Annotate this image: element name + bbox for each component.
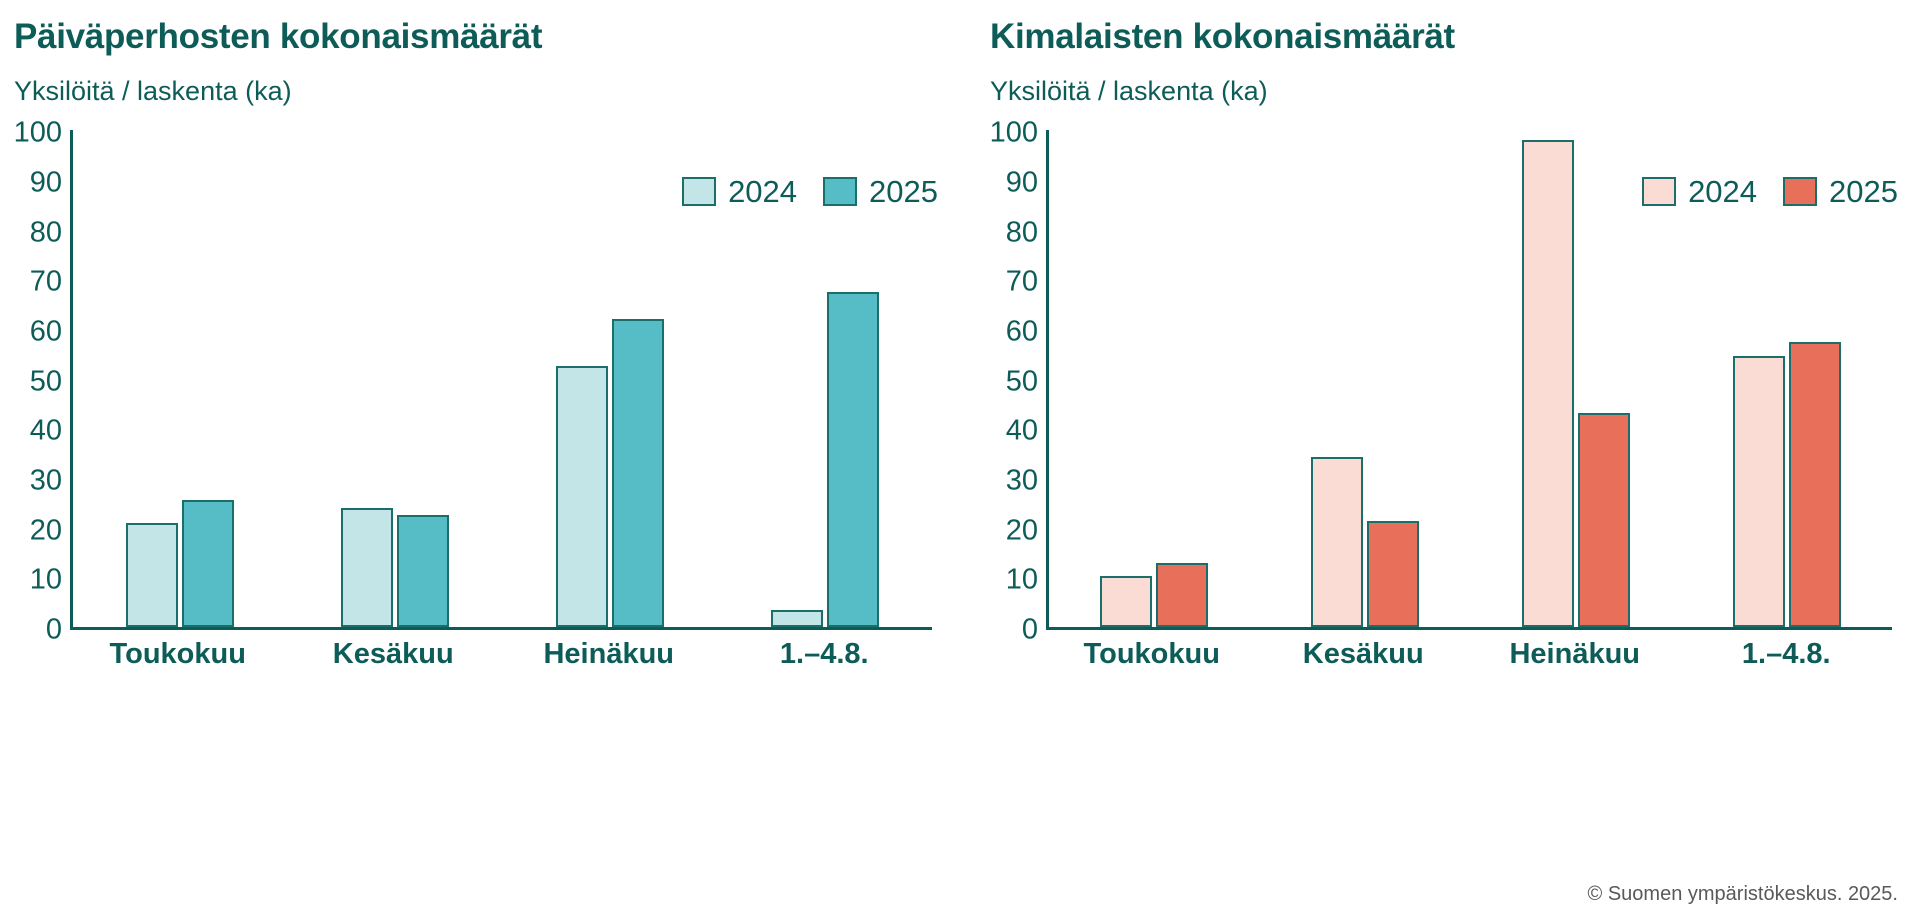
y-axis-tick-label: 60 [1006, 317, 1038, 346]
page-title-secondary: Kimalaisten kokonaismäärät [990, 18, 1900, 57]
y-axis-tick-label: 20 [30, 516, 62, 545]
chart-page: Päiväperhosten kokonaismäärät Yksilöitä … [0, 0, 1920, 920]
legend-item-2024[interactable]: 2024 [682, 176, 797, 207]
panel-butterflies: Päiväperhosten kokonaismäärät Yksilöitä … [0, 0, 960, 860]
y-axis-tick-label: 100 [990, 119, 1038, 148]
y-axis-tick-label: 90 [30, 168, 62, 197]
bar-2024[interactable] [556, 366, 608, 627]
bar-2025[interactable] [612, 319, 664, 627]
bar-2024[interactable] [1522, 140, 1574, 627]
legend-label: 2025 [869, 176, 938, 207]
page-title: Päiväperhosten kokonaismäärät [14, 18, 940, 57]
legend-item-2025[interactable]: 2025 [823, 176, 938, 207]
x-axis-category-label: Kesäkuu [286, 638, 502, 671]
bar-group [73, 130, 288, 627]
bar-2024[interactable] [1311, 457, 1363, 627]
chart-legend: 20242025 [682, 176, 938, 207]
y-axis-tick-label: 30 [1006, 467, 1038, 496]
y-axis-tick-label: 70 [1006, 268, 1038, 297]
y-axis-tick-label: 90 [1006, 168, 1038, 197]
panels-container: Päiväperhosten kokonaismäärät Yksilöitä … [0, 0, 1920, 860]
x-axis-category-label: 1.–4.8. [717, 638, 933, 671]
y-axis-labels-secondary: 0102030405060708090100 [990, 130, 1046, 630]
bar-2025[interactable] [1789, 342, 1841, 627]
x-axis-line [70, 627, 932, 630]
y-axis-tick-label: 10 [30, 566, 62, 595]
y-axis-tick-label: 50 [1006, 367, 1038, 396]
y-axis-tick-label: 40 [30, 417, 62, 446]
legend-item-2024[interactable]: 2024 [1642, 176, 1757, 207]
x-axis-line-secondary [1046, 627, 1892, 630]
x-axis-labels: ToukokuuKesäkuuHeinäkuu1.–4.8. [70, 638, 932, 671]
legend-swatch-icon [823, 177, 857, 206]
y-axis-tick-label: 70 [30, 268, 62, 297]
panel-bumblebees: Kimalaisten kokonaismäärät Yksilöitä / l… [960, 0, 1920, 860]
y-axis-tick-label: 80 [1006, 218, 1038, 247]
chart-subtitle: Yksilöitä / laskenta (ka) [14, 77, 940, 107]
chart-subtitle-secondary: Yksilöitä / laskenta (ka) [990, 77, 1900, 107]
x-axis-category-label: Heinäkuu [1469, 638, 1681, 671]
bar-group [288, 130, 503, 627]
bar-2025[interactable] [1367, 521, 1419, 627]
y-axis-tick-label: 40 [1006, 417, 1038, 446]
legend-label: 2024 [728, 176, 797, 207]
bar-2024[interactable] [1100, 576, 1152, 627]
chart-legend-secondary: 20242025 [1642, 176, 1898, 207]
legend-swatch-icon [1783, 177, 1817, 206]
x-axis-labels-secondary: ToukokuuKesäkuuHeinäkuu1.–4.8. [1046, 638, 1892, 671]
x-axis-category-label: Toukokuu [1046, 638, 1258, 671]
legend-swatch-icon [1642, 177, 1676, 206]
legend-item-2025[interactable]: 2025 [1783, 176, 1898, 207]
bar-2024[interactable] [771, 610, 823, 627]
y-axis-tick-label: 0 [1022, 616, 1038, 645]
y-axis-labels: 0102030405060708090100 [14, 130, 70, 630]
y-axis-tick-label: 30 [30, 467, 62, 496]
y-axis-tick-label: 60 [30, 317, 62, 346]
bar-2025[interactable] [1156, 563, 1208, 628]
y-axis-tick-label: 100 [14, 119, 62, 148]
legend-swatch-icon [682, 177, 716, 206]
bar-2024[interactable] [126, 523, 178, 627]
bar-2025[interactable] [827, 292, 879, 627]
bar-2025[interactable] [1578, 413, 1630, 627]
bar-2024[interactable] [1733, 356, 1785, 627]
copyright-text: © Suomen ympäristökeskus. 2025. [1588, 883, 1898, 906]
bar-group [1260, 130, 1471, 627]
y-axis-tick-label: 10 [1006, 566, 1038, 595]
x-axis-category-label: 1.–4.8. [1681, 638, 1893, 671]
bar-2025[interactable] [182, 500, 234, 627]
y-axis-tick-label: 20 [1006, 516, 1038, 545]
bar-2024[interactable] [341, 508, 393, 627]
bar-group [1049, 130, 1260, 627]
y-axis-tick-label: 50 [30, 367, 62, 396]
x-axis-category-label: Kesäkuu [1258, 638, 1470, 671]
legend-label: 2024 [1688, 176, 1757, 207]
y-axis-tick-label: 0 [46, 616, 62, 645]
legend-label: 2025 [1829, 176, 1898, 207]
bar-2025[interactable] [397, 515, 449, 627]
y-axis-tick-label: 80 [30, 218, 62, 247]
x-axis-category-label: Toukokuu [70, 638, 286, 671]
x-axis-category-label: Heinäkuu [501, 638, 717, 671]
